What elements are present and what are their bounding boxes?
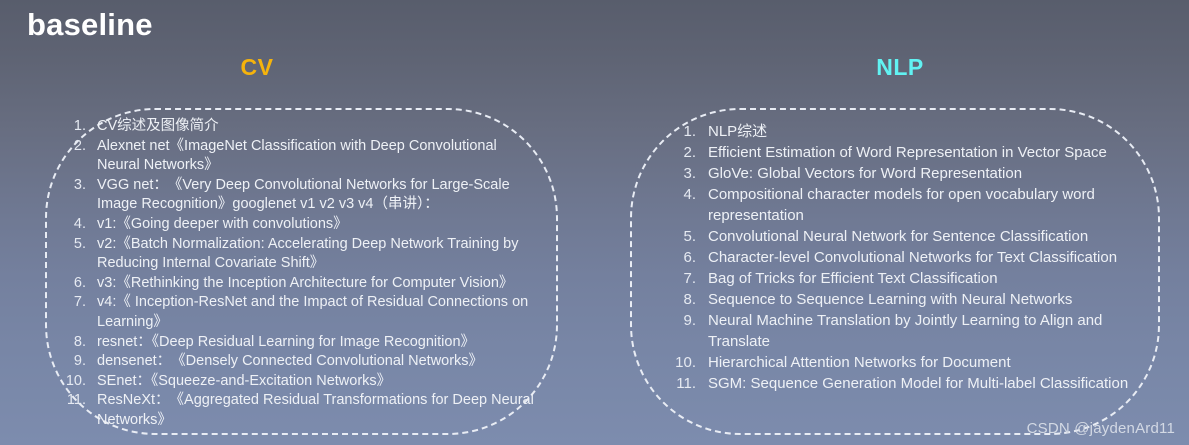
list-item: 4.Compositional character models for ope… — [671, 184, 1151, 226]
list-item-text: v4:《 Inception-ResNet and the Impact of … — [97, 293, 542, 332]
list-item-text: CV综述及图像简介 — [97, 117, 542, 137]
list-item-text: Convolutional Neural Network for Sentenc… — [708, 226, 1151, 247]
list-item-number: 9. — [62, 352, 86, 372]
list-item: 9.densenet： 《Densely Connected Convoluti… — [62, 352, 542, 372]
list-item: 10.Hierarchical Attention Networks for D… — [671, 352, 1151, 373]
list-item-text: Bag of Tricks for Efficient Text Classif… — [708, 268, 1151, 289]
list-item-text: v3:《Rethinking the Inception Architectur… — [97, 274, 542, 294]
list-item-number: 10. — [62, 372, 86, 392]
list-item: 3.GloVe: Global Vectors for Word Represe… — [671, 163, 1151, 184]
list-item-number: 1. — [62, 117, 86, 137]
list-item-text: Character-level Convolutional Networks f… — [708, 247, 1151, 268]
list-item-text: densenet： 《Densely Connected Convolution… — [97, 352, 542, 372]
list-item: 1.NLP综述 — [671, 121, 1151, 142]
list-item-text: Efficient Estimation of Word Representat… — [708, 142, 1151, 163]
list-item-number: 3. — [671, 163, 696, 184]
list-item-number: 4. — [671, 184, 696, 205]
list-item-number: 5. — [671, 226, 696, 247]
list-item-text: Alexnet net《ImageNet Classification with… — [97, 137, 542, 176]
list-item-text: v2:《Batch Normalization: Accelerating De… — [97, 235, 542, 274]
list-item: 8.resnet：《Deep Residual Learning for Ima… — [62, 333, 542, 353]
list-item: 7.Bag of Tricks for Efficient Text Class… — [671, 268, 1151, 289]
list-item: 6.Character-level Convolutional Networks… — [671, 247, 1151, 268]
list-item: 3.VGG net： 《Very Deep Convolutional Netw… — [62, 176, 542, 215]
list-item-text: v1:《Going deeper with convolutions》 — [97, 215, 542, 235]
watermark: CSDN @jaydenArd11 — [1027, 420, 1175, 437]
column-header-cv: CV — [205, 53, 309, 81]
list-item-text: Sequence to Sequence Learning with Neura… — [708, 289, 1151, 310]
list-item-number: 3. — [62, 176, 86, 196]
list-item-text: Neural Machine Translation by Jointly Le… — [708, 310, 1151, 352]
list-item: 6.v3:《Rethinking the Inception Architect… — [62, 274, 542, 294]
cv-reference-list: 1.CV综述及图像简介2.Alexnet net《ImageNet Classi… — [62, 117, 542, 431]
list-item: 2.Efficient Estimation of Word Represent… — [671, 142, 1151, 163]
list-item-number: 4. — [62, 215, 86, 235]
list-item-text: Hierarchical Attention Networks for Docu… — [708, 352, 1151, 373]
list-item-number: 5. — [62, 235, 86, 255]
nlp-reference-list: 1.NLP综述2.Efficient Estimation of Word Re… — [671, 121, 1151, 394]
list-item: 7.v4:《 Inception-ResNet and the Impact o… — [62, 293, 542, 332]
column-header-nlp: NLP — [848, 53, 952, 81]
list-item: 2.Alexnet net《ImageNet Classification wi… — [62, 137, 542, 176]
list-item-number: 1. — [671, 121, 696, 142]
list-item-text: VGG net： 《Very Deep Convolutional Networ… — [97, 176, 542, 215]
list-item-text: resnet：《Deep Residual Learning for Image… — [97, 333, 542, 353]
list-item: 10.SEnet：《Squeeze-and-Excitation Network… — [62, 372, 542, 392]
list-item: 9.Neural Machine Translation by Jointly … — [671, 310, 1151, 352]
list-item: 5.v2:《Batch Normalization: Accelerating … — [62, 235, 542, 274]
list-item-number: 11. — [62, 391, 86, 411]
list-item-number: 10. — [671, 352, 696, 373]
list-item-text: ResNeXt： 《Aggregated Residual Transforma… — [97, 391, 542, 430]
list-item-text: GloVe: Global Vectors for Word Represent… — [708, 163, 1151, 184]
list-item: 4.v1:《Going deeper with convolutions》 — [62, 215, 542, 235]
list-item: 11.SGM: Sequence Generation Model for Mu… — [671, 373, 1151, 394]
list-item-text: SEnet：《Squeeze-and-Excitation Networks》 — [97, 372, 542, 392]
list-item-number: 2. — [62, 137, 86, 157]
list-item-number: 6. — [671, 247, 696, 268]
list-item: 8.Sequence to Sequence Learning with Neu… — [671, 289, 1151, 310]
list-item-number: 6. — [62, 274, 86, 294]
list-item-number: 9. — [671, 310, 696, 331]
list-item-number: 11. — [671, 373, 696, 394]
list-item: 11.ResNeXt： 《Aggregated Residual Transfo… — [62, 391, 542, 430]
list-item: 5.Convolutional Neural Network for Sente… — [671, 226, 1151, 247]
list-item-number: 8. — [671, 289, 696, 310]
list-item: 1.CV综述及图像简介 — [62, 117, 542, 137]
list-item-number: 8. — [62, 333, 86, 353]
list-item-number: 7. — [62, 293, 86, 313]
list-item-number: 7. — [671, 268, 696, 289]
list-item-text: Compositional character models for open … — [708, 184, 1151, 226]
list-item-text: SGM: Sequence Generation Model for Multi… — [708, 373, 1151, 394]
page-title: baseline — [27, 6, 153, 44]
list-item-text: NLP综述 — [708, 121, 1151, 142]
list-item-number: 2. — [671, 142, 696, 163]
